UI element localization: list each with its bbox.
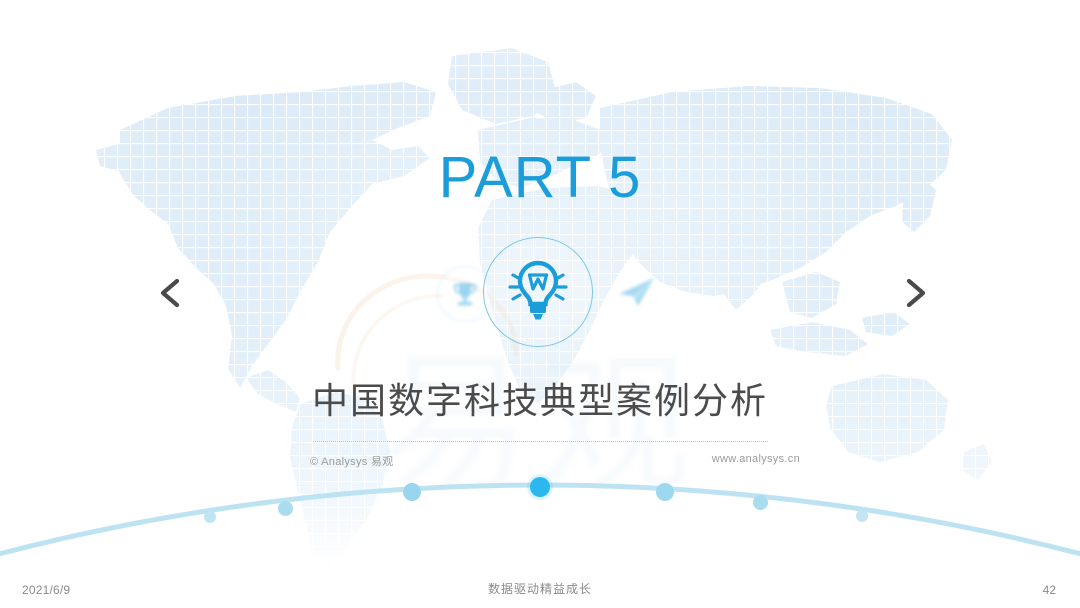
progress-dot-active[interactable] <box>530 477 550 497</box>
previous-slide-chevron[interactable] <box>150 272 192 314</box>
progress-dot[interactable] <box>204 511 216 523</box>
dotted-divider <box>313 441 768 442</box>
copyright-credit: © Analysys 易观 <box>310 453 394 469</box>
progress-dot[interactable] <box>856 510 868 522</box>
progress-dot[interactable] <box>278 501 293 516</box>
part-number-title: PART 5 <box>0 148 1080 209</box>
progress-dot[interactable] <box>403 483 421 501</box>
progress-dot[interactable] <box>656 483 674 501</box>
lightbulb-idea-icon <box>483 237 593 347</box>
slide-canvas: 易观 PART 5 <box>0 0 1080 608</box>
footer-tagline: 数据驱动精益成长 <box>0 580 1080 597</box>
footer-page-number: 42 <box>1043 583 1056 597</box>
next-slide-chevron[interactable] <box>894 272 936 314</box>
section-icon-cluster <box>420 235 660 350</box>
section-progress-arc <box>0 455 1080 565</box>
section-subtitle: 中国数字科技典型案例分析 <box>0 372 1080 424</box>
paper-plane-icon <box>610 265 664 319</box>
progress-dot[interactable] <box>753 495 768 510</box>
website-url: www.analysys.cn <box>712 453 800 465</box>
